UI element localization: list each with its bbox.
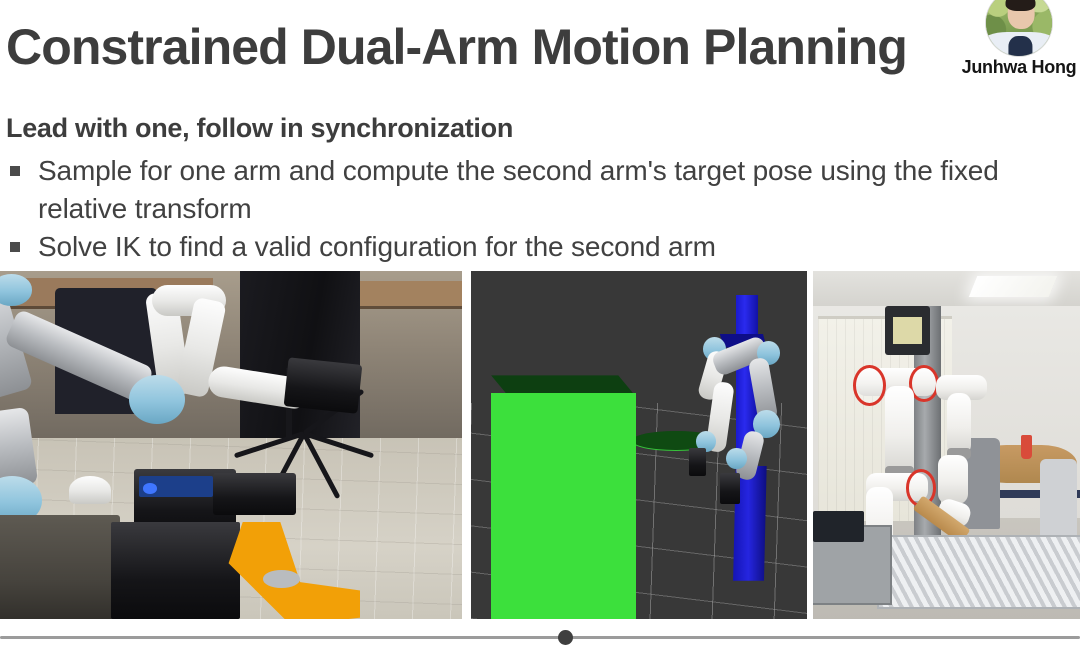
list-item: Sample for one arm and compute the secon…: [6, 152, 1041, 228]
laptop: [813, 511, 864, 542]
presenter-name: Junhwa Hong: [960, 57, 1078, 78]
avatar-hair: [1006, 0, 1036, 11]
lab-room-scene: [813, 271, 1080, 619]
ur-arm-joint-mid: [129, 375, 184, 424]
lower-gripper-fingers: [213, 473, 296, 515]
emergency-stop-cap: [69, 476, 111, 504]
left-arm-joint-marker-1: [853, 365, 886, 406]
figure-simulation-viewport: [471, 271, 807, 619]
figure-real-robot-lab-photo: [0, 271, 462, 619]
sim-green-box-face: [491, 393, 635, 619]
square-bullet-icon: [10, 166, 20, 176]
figure-strip: [0, 271, 1080, 619]
figure-white-dual-arm-robot-photo: [813, 271, 1080, 619]
mount-plate: [111, 522, 240, 619]
ceiling-light: [969, 276, 1058, 297]
sim-arm-a-gripper: [689, 448, 706, 476]
slider-track[interactable]: [0, 636, 1080, 639]
presenter-badge: Junhwa Hong: [960, 0, 1078, 78]
sim-scene: [471, 271, 807, 619]
slider-knob[interactable]: [558, 630, 573, 645]
avatar-inner-shirt: [1008, 36, 1032, 56]
teach-pendant: [885, 306, 930, 355]
sensor-led: [143, 483, 157, 493]
left-arm-upper-link: [885, 386, 914, 476]
white-arm-gripper: [284, 358, 363, 414]
robot-base-cabinet: [0, 515, 120, 619]
video-progress-slider[interactable]: [0, 630, 1080, 647]
drink-cup: [1021, 435, 1032, 459]
list-item-label: Solve IK to find a valid configuration f…: [38, 228, 1041, 266]
sim-arm-b-joint-3: [726, 448, 746, 469]
square-bullet-icon: [10, 242, 20, 252]
presentation-slide: Constrained Dual-Arm Motion Planning Jun…: [0, 0, 1080, 647]
avatar: [986, 0, 1052, 56]
page-title: Constrained Dual-Arm Motion Planning: [6, 22, 907, 72]
slide-subheading: Lead with one, follow in synchronization: [6, 113, 513, 144]
list-item: Solve IK to find a valid configuration f…: [6, 228, 1041, 266]
right-arm-forearm: [938, 455, 967, 504]
sim-arm-b-gripper: [720, 473, 740, 504]
right-arm-upper-link: [947, 393, 971, 456]
lab-scene: [0, 271, 462, 619]
aluminum-work-table: [877, 535, 1080, 609]
list-item-label: Sample for one arm and compute the secon…: [38, 152, 1041, 228]
bullet-list: Sample for one arm and compute the secon…: [6, 152, 1041, 266]
fixture-puck: [263, 570, 300, 587]
